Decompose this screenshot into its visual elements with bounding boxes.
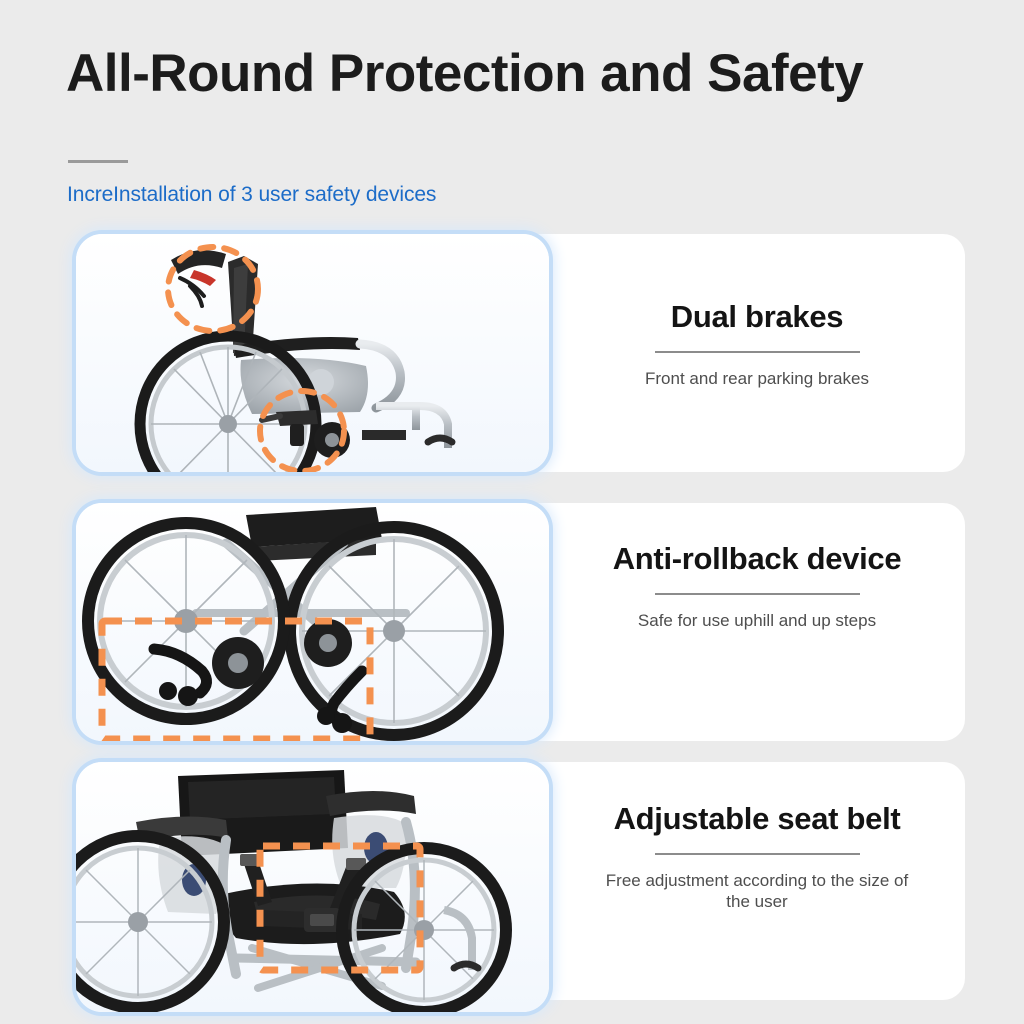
feature-card-description: Safe for use uphill and up steps bbox=[549, 610, 965, 631]
title-divider bbox=[68, 160, 128, 163]
feature-card-title: Dual brakes bbox=[549, 298, 965, 335]
feature-card-description: Front and rear parking brakes bbox=[549, 368, 965, 389]
feature-card-title: Anti-rollback device bbox=[549, 540, 965, 577]
feature-card-title: Adjustable seat belt bbox=[549, 800, 965, 837]
feature-card-divider bbox=[655, 351, 860, 353]
feature-card-text: Adjustable seat belt Free adjustment acc… bbox=[549, 800, 965, 913]
feature-card-divider bbox=[655, 593, 860, 595]
page-title: All-Round Protection and Safety bbox=[66, 44, 863, 103]
wheelchair-wheels-anti-rollback-photo bbox=[76, 503, 549, 741]
feature-image-panel bbox=[76, 234, 549, 472]
page-subtitle: IncreInstallation of 3 user safety devic… bbox=[67, 183, 436, 207]
feature-image-panel bbox=[76, 503, 549, 741]
feature-card-divider bbox=[655, 853, 860, 855]
feature-card-description: Free adjustment according to the size of… bbox=[549, 870, 965, 913]
feature-card-text: Anti-rollback device Safe for use uphill… bbox=[549, 540, 965, 631]
feature-image-panel bbox=[76, 762, 549, 1012]
wheelchair-seat-belt-photo bbox=[76, 762, 549, 1012]
wheelchair-side-view-brakes-photo bbox=[76, 234, 549, 472]
feature-card-text: Dual brakes Front and rear parking brake… bbox=[549, 298, 965, 389]
